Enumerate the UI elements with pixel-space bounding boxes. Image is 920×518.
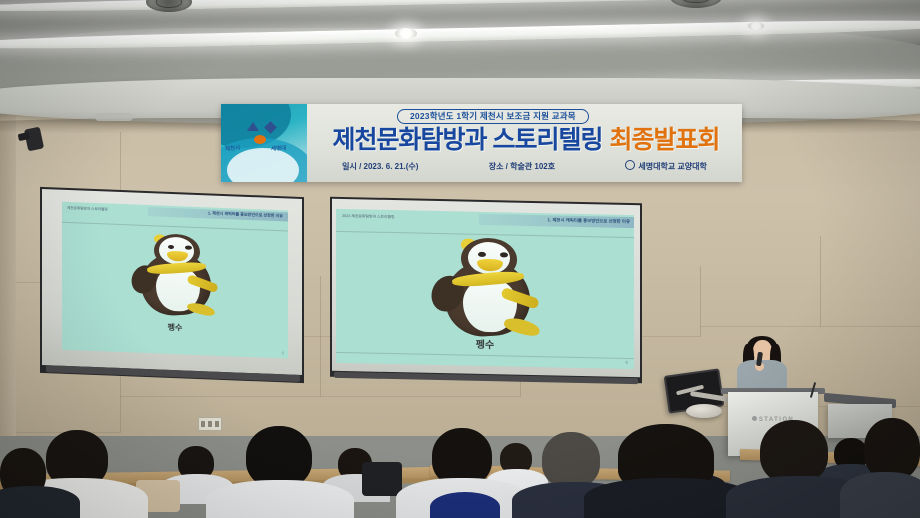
audience-shoulders [840,472,920,518]
slide-left: 제천문화탐방과 스토리텔링 1. 제천시 캐릭터를 홍보방안으로 선정한 이유 … [62,202,288,359]
projection-screen-right-frame: 2023 제천문화탐방과 스토리텔링 1. 제천시 캐릭터를 홍보방안으로 선정… [330,197,642,384]
penguin-eye-right [185,245,191,250]
audience-head [246,426,312,488]
ceiling-mount-plate [95,113,133,121]
penguin-eye-right [500,252,508,257]
audience-shoulders [206,480,354,518]
banner-organizer: 세명대학교 교양대학 [625,160,706,172]
ceiling-downlight [395,28,417,39]
banner-title-blue: 제천문화탐방과 스토리텔링 [333,120,603,156]
slide-right-caption: 펭수 [336,333,634,354]
banner-organizer-label: 세명대학교 교양대학 [638,162,706,171]
university-mark-icon [625,160,635,170]
wall-panel [820,236,920,327]
monitor-base [686,404,722,418]
wall-left-shadow [0,96,16,436]
slide-right-page-number: 6 [625,360,628,365]
banner-details: 일시 / 2023. 6. 21.(수) 장소 / 학술관 102호 세명대학교… [307,160,742,172]
slide-right-header-left: 2023 제천문화탐방과 스토리텔링 [342,214,422,221]
podium-brand-dot-icon [752,416,757,421]
logo-triangle-icon [247,122,259,131]
logo-text-right: 세명대 [271,143,287,152]
projection-screen-left-frame: 제천문화탐방과 스토리텔링 1. 제천시 캐릭터를 홍보방안으로 선정한 이유 … [40,187,304,383]
wall-outlet-plate [198,417,222,431]
slide-left-page-number: 6 [282,350,284,355]
banner-title-orange: 최종발표회 [609,120,719,156]
penguin-foot [503,315,541,337]
ceiling-downlight [748,22,764,30]
logo-text-left: 제천시 [225,143,241,153]
penguin-mascot-left [130,230,222,320]
cap [430,492,500,518]
banner-logo: 제천시 세명대 [221,104,307,182]
slide-left-header-left: 제천문화탐방과 스토리텔링 [67,206,127,213]
event-banner: 제천시 세명대 2023학년도 1학기 제천시 보조금 지원 교과목 제천문화탐… [221,104,742,182]
banner-place: 장소 / 학술관 102호 [489,161,555,172]
audience-shoulders [0,486,80,518]
slide-left-caption: 펭수 [62,318,288,338]
banner-date: 일시 / 2023. 6. 21.(수) [342,161,418,172]
audience-head [760,420,828,484]
banner-title: 제천문화탐방과 스토리텔링 최종발표회 [311,121,741,155]
lecture-hall-photo: 제천시 세명대 2023학년도 1학기 제천시 보조금 지원 교과목 제천문화탐… [0,0,920,518]
audience-head [542,432,600,488]
logo-ellipse-icon [254,135,266,144]
penguin-eye-left [478,251,486,256]
handbag [362,462,402,496]
slide-right: 2023 제천문화탐방과 스토리텔링 1. 제천시 캐릭터를 홍보방안으로 선정… [336,209,634,369]
wall-panel [700,236,821,327]
penguin-mascot-right [432,235,544,341]
audience-head [864,418,920,480]
